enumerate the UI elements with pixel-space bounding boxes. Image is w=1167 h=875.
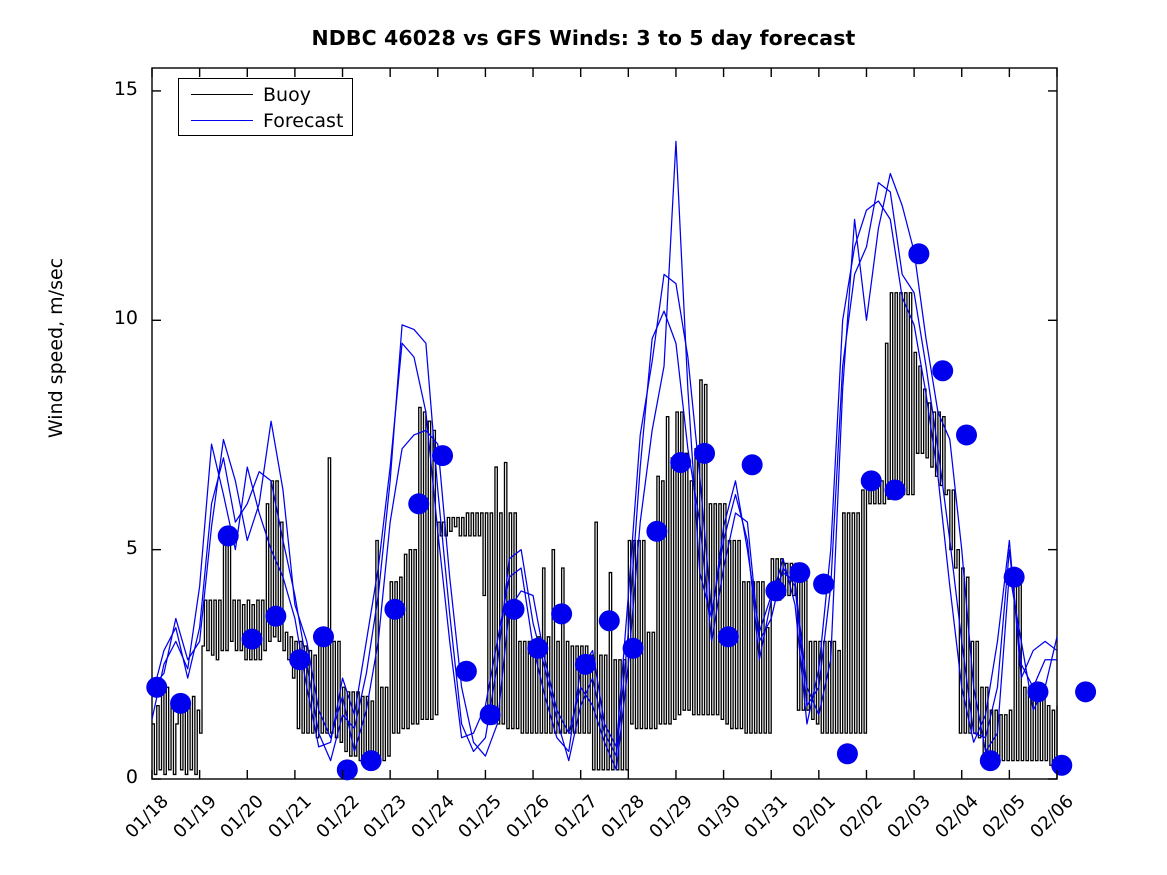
legend-swatch-buoy — [191, 94, 253, 95]
legend-item-forecast: Forecast — [179, 108, 352, 134]
legend-label-forecast: Forecast — [263, 108, 343, 134]
plot-canvas — [0, 0, 1167, 875]
chart-figure: NDBC 46028 vs GFS Winds: 3 to 5 day fore… — [0, 0, 1167, 875]
legend-label-buoy: Buoy — [263, 82, 311, 108]
y-tick-label: 15 — [78, 78, 138, 100]
legend-item-buoy: Buoy — [179, 82, 352, 108]
y-tick-label: 0 — [78, 766, 138, 788]
y-tick-label: 5 — [78, 537, 138, 559]
y-tick-label: 10 — [78, 307, 138, 329]
legend-swatch-forecast — [191, 120, 253, 121]
chart-legend: Buoy Forecast — [178, 78, 353, 136]
